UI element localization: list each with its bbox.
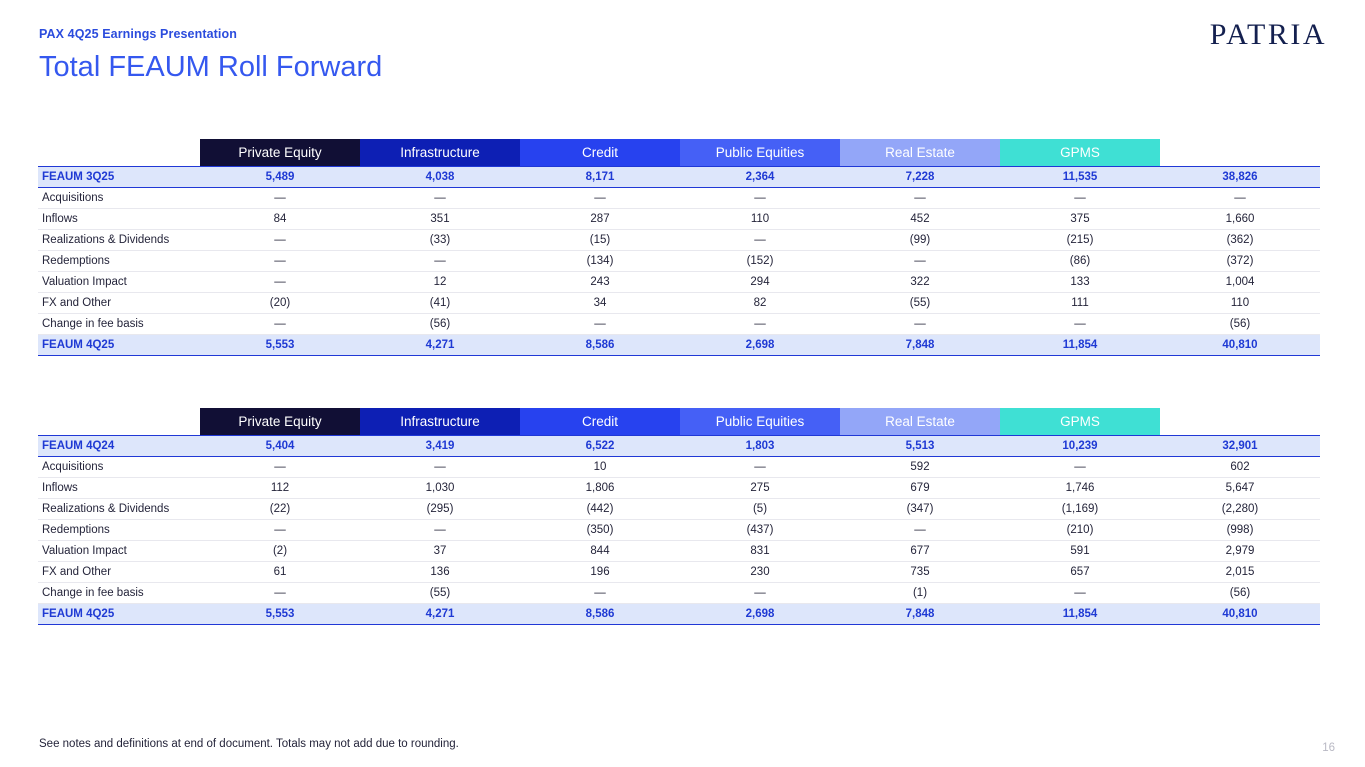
- table-row: Realizations & Dividends (22) (295) (442…: [38, 499, 1320, 520]
- cell-total: 40,810: [1160, 335, 1320, 356]
- column-header-real-estate: Real Estate: [840, 139, 1000, 167]
- table-row: Realizations & Dividends — (33) (15) — (…: [38, 230, 1320, 251]
- cell-gpms: (86): [1000, 251, 1160, 272]
- cell-credit: (134): [520, 251, 680, 272]
- cell-real-estate: 7,848: [840, 335, 1000, 356]
- row-label: FEAUM 4Q25: [38, 335, 200, 356]
- cell-infrastructure: (55): [360, 583, 520, 604]
- table-row: Acquisitions — — — — — — —: [38, 188, 1320, 209]
- table-row: Change in fee basis — (56) — — — — (56): [38, 314, 1320, 335]
- row-label: Valuation Impact: [38, 272, 200, 293]
- cell-real-estate: 735: [840, 562, 1000, 583]
- cell-infrastructure: 4,271: [360, 335, 520, 356]
- table-row: Redemptions — — (350) (437) — (210) (998…: [38, 520, 1320, 541]
- column-header-gpms: GPMS: [1000, 139, 1160, 167]
- cell-private-equity: (22): [200, 499, 360, 520]
- cell-public-equities: —: [680, 314, 840, 335]
- cell-public-equities: —: [680, 583, 840, 604]
- cell-private-equity: 61: [200, 562, 360, 583]
- cell-infrastructure: 1,030: [360, 478, 520, 499]
- cell-public-equities: 230: [680, 562, 840, 583]
- row-label: Acquisitions: [38, 457, 200, 478]
- cell-total: (56): [1160, 583, 1320, 604]
- table-body: FEAUM 4Q24 5,404 3,419 6,522 1,803 5,513…: [38, 436, 1320, 625]
- cell-total: 32,901: [1160, 436, 1320, 457]
- cell-private-equity: —: [200, 520, 360, 541]
- cell-total: 2,979: [1160, 541, 1320, 562]
- cell-gpms: (1,169): [1000, 499, 1160, 520]
- cell-infrastructure: (295): [360, 499, 520, 520]
- cell-infrastructure: —: [360, 457, 520, 478]
- cell-credit: 8,586: [520, 335, 680, 356]
- cell-private-equity: —: [200, 314, 360, 335]
- cell-credit: (350): [520, 520, 680, 541]
- cell-credit: 8,586: [520, 604, 680, 625]
- row-label: FEAUM 4Q24: [38, 436, 200, 457]
- row-label: Redemptions: [38, 251, 200, 272]
- table-row: Inflows 84 351 287 110 452 375 1,660: [38, 209, 1320, 230]
- cell-real-estate: —: [840, 188, 1000, 209]
- cell-real-estate: (55): [840, 293, 1000, 314]
- table-header: Private Equity Infrastructure Credit Pub…: [38, 408, 1320, 436]
- column-header-blank: [38, 139, 200, 167]
- table-row: Inflows 112 1,030 1,806 275 679 1,746 5,…: [38, 478, 1320, 499]
- cell-gpms: 133: [1000, 272, 1160, 293]
- cell-total: 1,660: [1160, 209, 1320, 230]
- table-row: Redemptions — — (134) (152) — (86) (372): [38, 251, 1320, 272]
- row-label: Realizations & Dividends: [38, 230, 200, 251]
- cell-infrastructure: —: [360, 520, 520, 541]
- table-header: Private Equity Infrastructure Credit Pub…: [38, 139, 1320, 167]
- table-header-row: Private Equity Infrastructure Credit Pub…: [38, 408, 1320, 436]
- column-header-blank: [38, 408, 200, 436]
- cell-public-equities: —: [680, 457, 840, 478]
- cell-private-equity: 5,553: [200, 335, 360, 356]
- cell-real-estate: —: [840, 251, 1000, 272]
- cell-credit: 1,806: [520, 478, 680, 499]
- row-label: FX and Other: [38, 562, 200, 583]
- cell-infrastructure: (56): [360, 314, 520, 335]
- cell-credit: (442): [520, 499, 680, 520]
- table-row: Change in fee basis — (55) — — (1) — (56…: [38, 583, 1320, 604]
- cell-total: 5,647: [1160, 478, 1320, 499]
- cell-gpms: 11,535: [1000, 167, 1160, 188]
- cell-private-equity: —: [200, 457, 360, 478]
- column-header-public-equities: Public Equities: [680, 408, 840, 436]
- opening-balance-row: FEAUM 4Q24 5,404 3,419 6,522 1,803 5,513…: [38, 436, 1320, 457]
- cell-public-equities: —: [680, 188, 840, 209]
- cell-credit: 844: [520, 541, 680, 562]
- cell-gpms: (210): [1000, 520, 1160, 541]
- table-row: Valuation Impact — 12 243 294 322 133 1,…: [38, 272, 1320, 293]
- cell-total: (56): [1160, 314, 1320, 335]
- cell-total: (2,280): [1160, 499, 1320, 520]
- cell-private-equity: (20): [200, 293, 360, 314]
- row-label: Valuation Impact: [38, 541, 200, 562]
- cell-gpms: 10,239: [1000, 436, 1160, 457]
- page-number: 16: [1322, 740, 1335, 756]
- feaum-roll-forward-quarterly-table: Private Equity Infrastructure Credit Pub…: [38, 139, 1320, 356]
- table-row: FX and Other 61 136 196 230 735 657 2,01…: [38, 562, 1320, 583]
- cell-credit: —: [520, 314, 680, 335]
- column-header-infrastructure: Infrastructure: [360, 139, 520, 167]
- cell-real-estate: —: [840, 520, 1000, 541]
- cell-public-equities: —: [680, 230, 840, 251]
- cell-infrastructure: 37: [360, 541, 520, 562]
- cell-private-equity: —: [200, 583, 360, 604]
- cell-total: 602: [1160, 457, 1320, 478]
- cell-private-equity: —: [200, 230, 360, 251]
- opening-balance-row: FEAUM 3Q25 5,489 4,038 8,171 2,364 7,228…: [38, 167, 1320, 188]
- column-header-total: Total: [1160, 139, 1320, 167]
- cell-total: 40,810: [1160, 604, 1320, 625]
- cell-credit: 196: [520, 562, 680, 583]
- table-row: Valuation Impact (2) 37 844 831 677 591 …: [38, 541, 1320, 562]
- cell-real-estate: 592: [840, 457, 1000, 478]
- cell-gpms: —: [1000, 583, 1160, 604]
- cell-infrastructure: (41): [360, 293, 520, 314]
- cell-real-estate: —: [840, 314, 1000, 335]
- cell-real-estate: (1): [840, 583, 1000, 604]
- cell-real-estate: 322: [840, 272, 1000, 293]
- cell-private-equity: 84: [200, 209, 360, 230]
- cell-infrastructure: 136: [360, 562, 520, 583]
- cell-real-estate: (347): [840, 499, 1000, 520]
- cell-credit: —: [520, 188, 680, 209]
- cell-credit: 243: [520, 272, 680, 293]
- cell-public-equities: (152): [680, 251, 840, 272]
- cell-private-equity: 112: [200, 478, 360, 499]
- presentation-eyebrow: PAX 4Q25 Earnings Presentation: [39, 26, 382, 42]
- cell-gpms: 11,854: [1000, 335, 1160, 356]
- cell-credit: 6,522: [520, 436, 680, 457]
- column-header-infrastructure: Infrastructure: [360, 408, 520, 436]
- cell-public-equities: 1,803: [680, 436, 840, 457]
- cell-credit: 287: [520, 209, 680, 230]
- slide-header: PAX 4Q25 Earnings Presentation Total FEA…: [39, 26, 382, 86]
- column-header-credit: Credit: [520, 139, 680, 167]
- cell-private-equity: —: [200, 272, 360, 293]
- row-label: Inflows: [38, 209, 200, 230]
- cell-real-estate: 7,848: [840, 604, 1000, 625]
- cell-gpms: (215): [1000, 230, 1160, 251]
- cell-public-equities: 2,698: [680, 604, 840, 625]
- patria-logo: PATRIA: [1210, 19, 1327, 51]
- cell-gpms: —: [1000, 457, 1160, 478]
- cell-real-estate: 5,513: [840, 436, 1000, 457]
- table-header-row: Private Equity Infrastructure Credit Pub…: [38, 139, 1320, 167]
- row-label: Change in fee basis: [38, 314, 200, 335]
- row-label: Redemptions: [38, 520, 200, 541]
- cell-total: —: [1160, 188, 1320, 209]
- cell-public-equities: (437): [680, 520, 840, 541]
- cell-gpms: 111: [1000, 293, 1160, 314]
- row-label: FX and Other: [38, 293, 200, 314]
- column-header-private-equity: Private Equity: [200, 139, 360, 167]
- cell-real-estate: 679: [840, 478, 1000, 499]
- cell-public-equities: 2,364: [680, 167, 840, 188]
- cell-public-equities: 82: [680, 293, 840, 314]
- cell-gpms: 591: [1000, 541, 1160, 562]
- column-header-public-equities: Public Equities: [680, 139, 840, 167]
- cell-private-equity: —: [200, 251, 360, 272]
- cell-credit: (15): [520, 230, 680, 251]
- table-body: FEAUM 3Q25 5,489 4,038 8,171 2,364 7,228…: [38, 167, 1320, 356]
- row-label: Realizations & Dividends: [38, 499, 200, 520]
- page-title: Total FEAUM Roll Forward: [39, 48, 382, 86]
- cell-credit: 34: [520, 293, 680, 314]
- cell-infrastructure: 12: [360, 272, 520, 293]
- cell-public-equities: 110: [680, 209, 840, 230]
- cell-infrastructure: 3,419: [360, 436, 520, 457]
- cell-real-estate: (99): [840, 230, 1000, 251]
- cell-gpms: 1,746: [1000, 478, 1160, 499]
- cell-public-equities: (5): [680, 499, 840, 520]
- cell-total: 1,004: [1160, 272, 1320, 293]
- cell-total: 38,826: [1160, 167, 1320, 188]
- cell-infrastructure: 4,271: [360, 604, 520, 625]
- cell-total: 110: [1160, 293, 1320, 314]
- cell-public-equities: 294: [680, 272, 840, 293]
- cell-gpms: 11,854: [1000, 604, 1160, 625]
- cell-infrastructure: —: [360, 251, 520, 272]
- row-label: FEAUM 3Q25: [38, 167, 200, 188]
- cell-total: (362): [1160, 230, 1320, 251]
- cell-private-equity: 5,404: [200, 436, 360, 457]
- row-label: FEAUM 4Q25: [38, 604, 200, 625]
- cell-infrastructure: 351: [360, 209, 520, 230]
- column-header-credit: Credit: [520, 408, 680, 436]
- cell-infrastructure: —: [360, 188, 520, 209]
- cell-total: (372): [1160, 251, 1320, 272]
- column-header-total: Total: [1160, 408, 1320, 436]
- row-label: Acquisitions: [38, 188, 200, 209]
- cell-gpms: —: [1000, 314, 1160, 335]
- cell-private-equity: 5,489: [200, 167, 360, 188]
- cell-total: 2,015: [1160, 562, 1320, 583]
- column-header-private-equity: Private Equity: [200, 408, 360, 436]
- cell-real-estate: 7,228: [840, 167, 1000, 188]
- row-label: Change in fee basis: [38, 583, 200, 604]
- row-label: Inflows: [38, 478, 200, 499]
- column-header-gpms: GPMS: [1000, 408, 1160, 436]
- cell-public-equities: 2,698: [680, 335, 840, 356]
- cell-gpms: 375: [1000, 209, 1160, 230]
- cell-credit: 10: [520, 457, 680, 478]
- table-row: FX and Other (20) (41) 34 82 (55) 111 11…: [38, 293, 1320, 314]
- cell-infrastructure: (33): [360, 230, 520, 251]
- closing-balance-row: FEAUM 4Q25 5,553 4,271 8,586 2,698 7,848…: [38, 335, 1320, 356]
- footnote: See notes and definitions at end of docu…: [39, 736, 459, 752]
- cell-gpms: 657: [1000, 562, 1160, 583]
- cell-public-equities: 831: [680, 541, 840, 562]
- cell-real-estate: 677: [840, 541, 1000, 562]
- cell-private-equity: —: [200, 188, 360, 209]
- cell-private-equity: 5,553: [200, 604, 360, 625]
- cell-public-equities: 275: [680, 478, 840, 499]
- closing-balance-row: FEAUM 4Q25 5,553 4,271 8,586 2,698 7,848…: [38, 604, 1320, 625]
- cell-private-equity: (2): [200, 541, 360, 562]
- cell-real-estate: 452: [840, 209, 1000, 230]
- cell-total: (998): [1160, 520, 1320, 541]
- table-row: Acquisitions — — 10 — 592 — 602: [38, 457, 1320, 478]
- feaum-roll-forward-annual-table: Private Equity Infrastructure Credit Pub…: [38, 408, 1320, 625]
- cell-credit: —: [520, 583, 680, 604]
- column-header-real-estate: Real Estate: [840, 408, 1000, 436]
- cell-gpms: —: [1000, 188, 1160, 209]
- cell-infrastructure: 4,038: [360, 167, 520, 188]
- cell-credit: 8,171: [520, 167, 680, 188]
